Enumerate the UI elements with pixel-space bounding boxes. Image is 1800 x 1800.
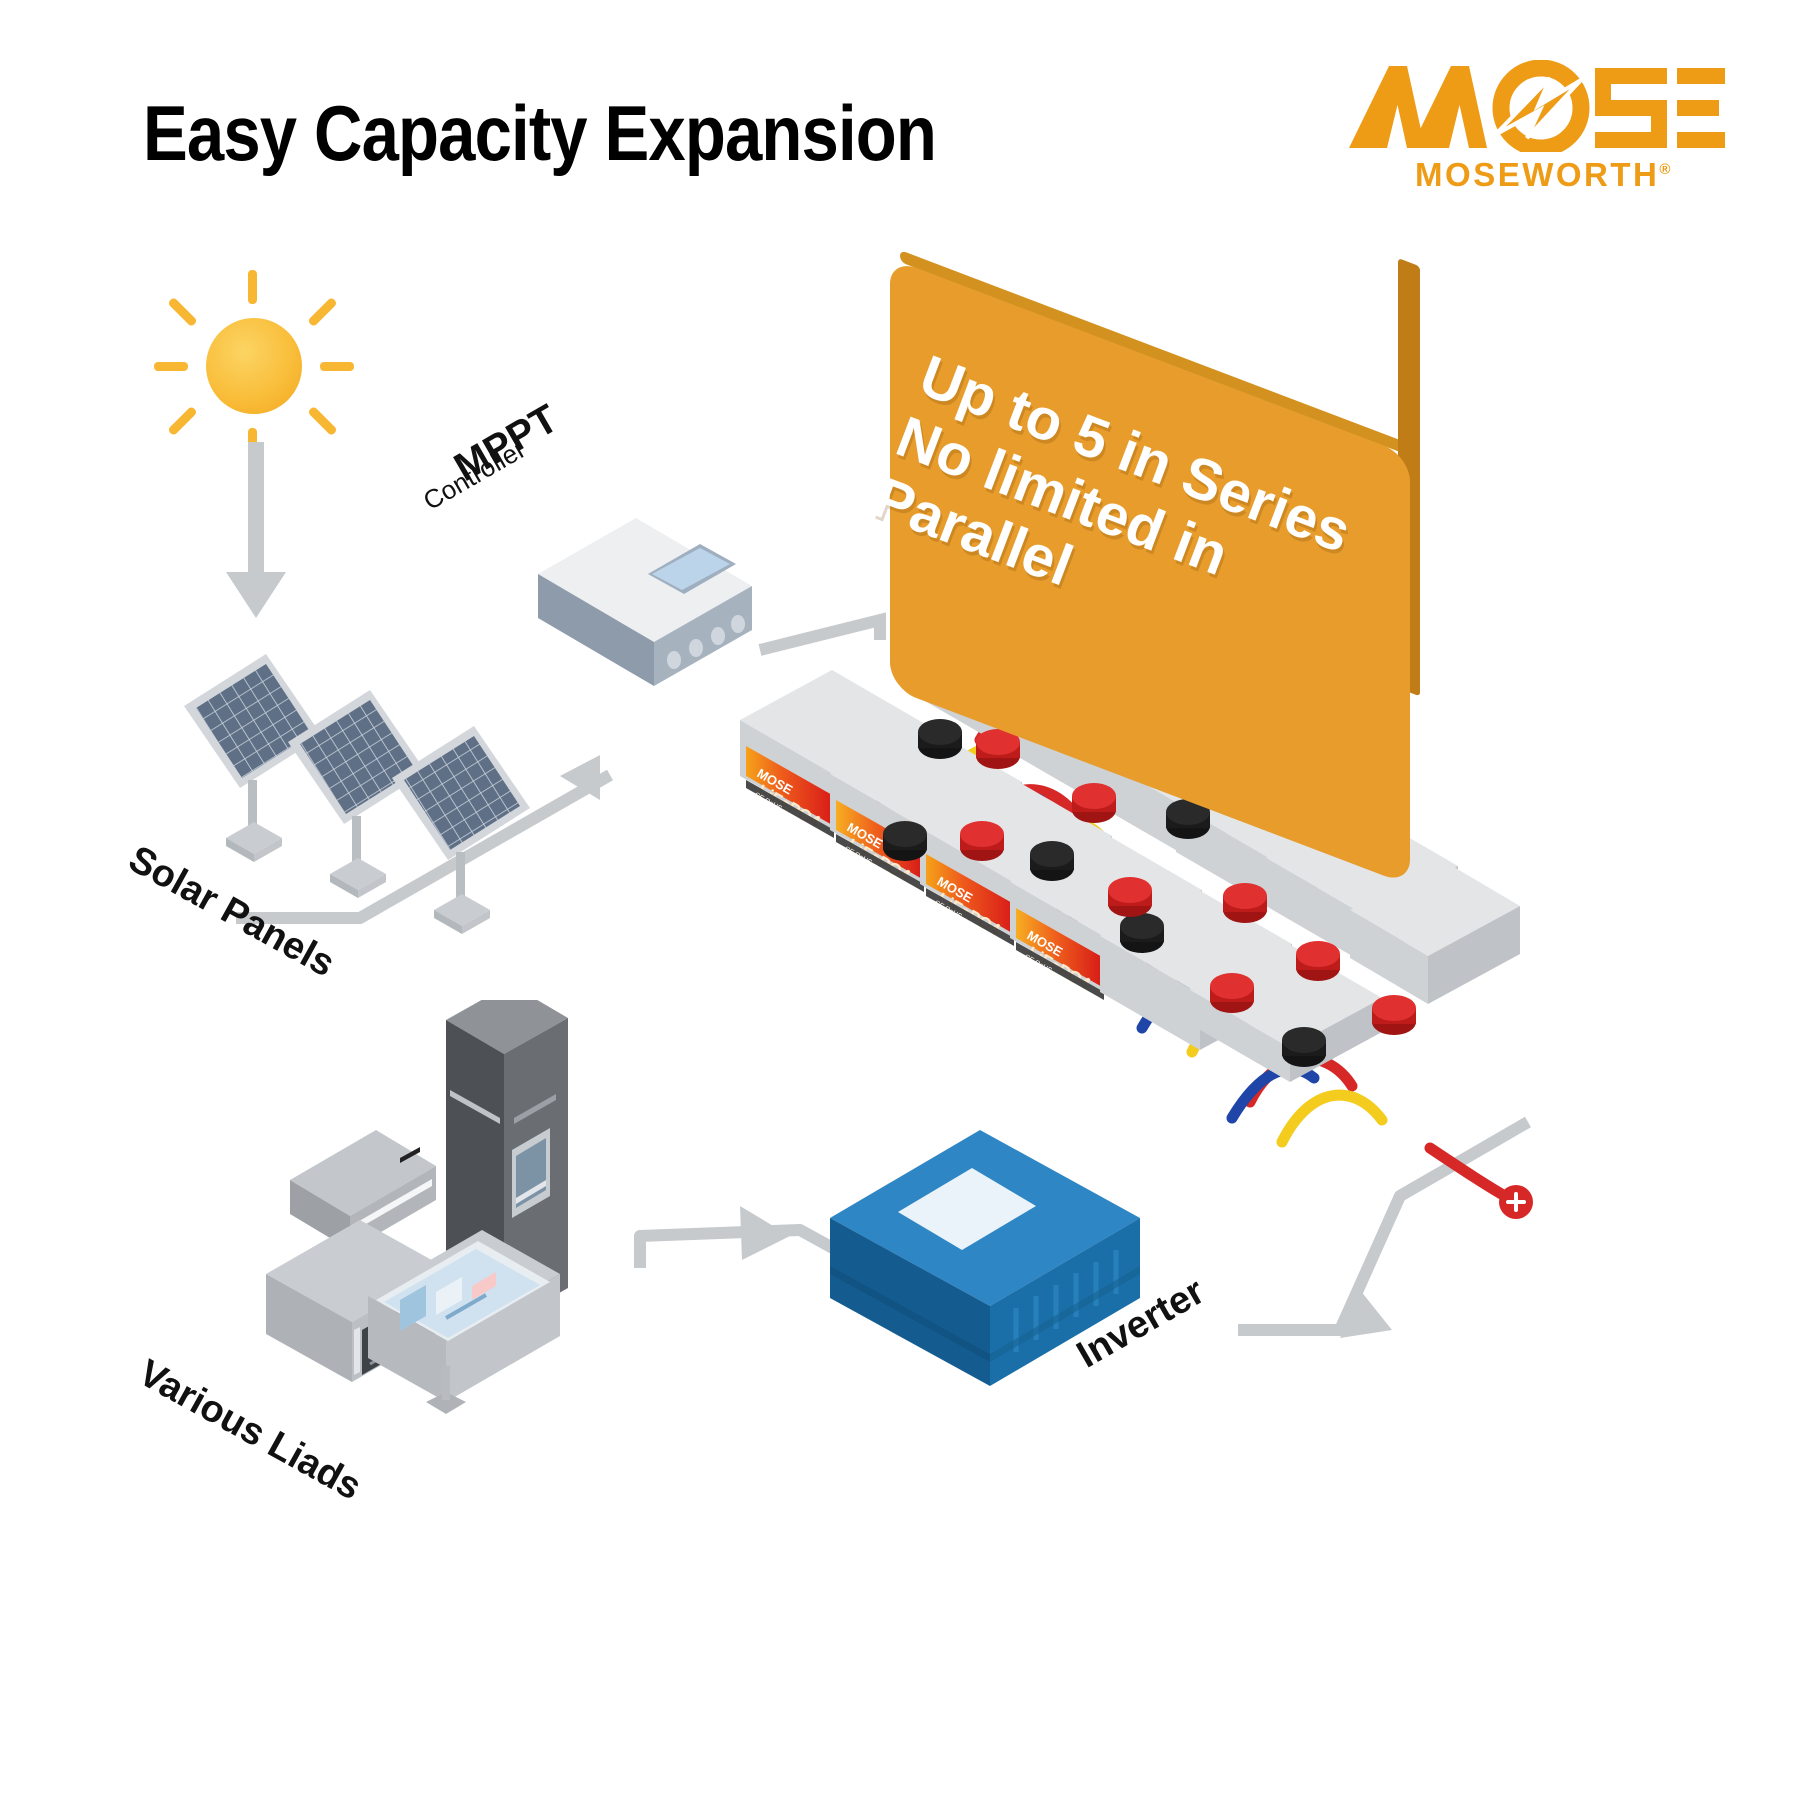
various-loads — [250, 1000, 610, 1430]
wire-battery-to-inverter — [1238, 1122, 1528, 1338]
battery-cable-parallel — [1282, 1095, 1382, 1142]
sun-arrow-icon — [226, 442, 286, 618]
callout-banner: Up to 5 in Series No limited in Parallel — [890, 258, 1450, 758]
positive-lead-output — [1430, 1148, 1533, 1219]
loads-icon — [250, 1000, 610, 1430]
infographic-canvas: Easy Capacity Expansion MOSEWORTH® — [0, 0, 1800, 1800]
